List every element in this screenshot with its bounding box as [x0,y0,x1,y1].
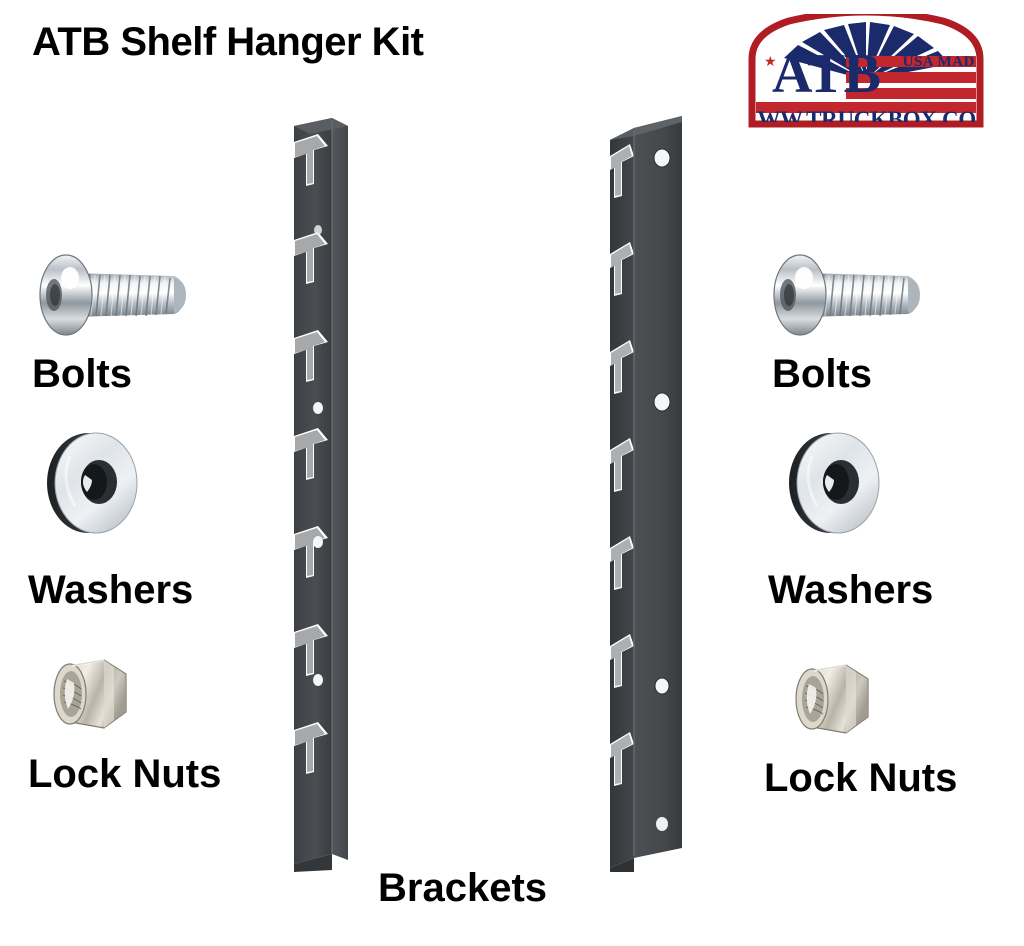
locknut-left-art [40,650,150,745]
locknut-right-art [782,655,892,750]
hex-lock-nut-icon [40,650,150,740]
bracket-right [600,112,692,877]
bolt-left-art [24,245,214,350]
bolt-right-label: Bolts [772,352,872,397]
shelf-hanger-bracket-icon [600,112,692,872]
bolt-right-art [758,245,948,350]
logo-tagline: USA MADE [903,54,984,70]
bolt-head-highlight [795,267,813,289]
bracket-right-face [634,116,682,858]
logo-brand-text: ATB [772,43,880,105]
hex-lock-nut-icon [782,655,892,745]
bolt-left-label: Bolts [32,352,132,397]
locknut-left-label: Lock Nuts [28,752,221,797]
washer-right-art [772,428,902,543]
bolt-tip [908,277,920,313]
bolt-tip [174,277,186,313]
pan-head-bolt-icon [24,245,214,345]
logo-website-text: WWW.TRUCKBOX.COM [748,107,984,132]
bracket-left [288,112,360,877]
logo-registered-mark: ® [848,54,859,70]
shelf-hanger-bracket-icon [288,112,360,872]
atb-truckbox-logo: USA MADE ★ ATB ® WWW.TRUCKBOX.COM [748,14,984,132]
washer-left-art [30,428,160,543]
bracket-left-flange [332,118,348,860]
washer-left-label: Washers [28,568,193,613]
bolt-head-highlight [61,267,79,289]
washer-right-label: Washers [768,568,933,613]
page-title: ATB Shelf Hanger Kit [32,20,424,65]
flat-washer-icon [772,428,902,538]
product-diagram-page: ATB Shelf Hanger Kit [0,0,1024,946]
brackets-label: Brackets [378,866,547,911]
logo-svg: USA MADE ★ ATB ® WWW.TRUCKBOX.COM [748,14,984,132]
locknut-right-label: Lock Nuts [764,756,957,801]
flat-washer-icon [30,428,160,538]
pan-head-bolt-icon [758,245,948,345]
